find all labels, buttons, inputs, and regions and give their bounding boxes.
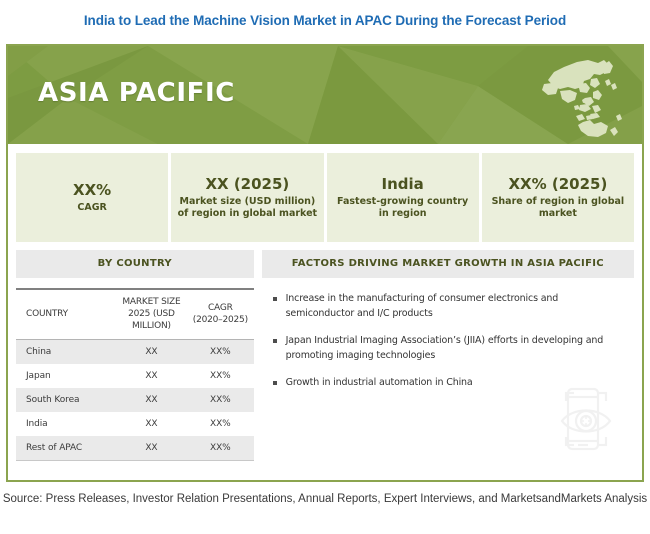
- stat-box-share-of-region: XX% (2025) Share of region in global mar…: [482, 153, 634, 242]
- growth-factors-list: Increase in the manufacturing of consume…: [262, 292, 634, 391]
- column-header-line: CAGR: [208, 303, 233, 313]
- cell-market-size: XX: [116, 436, 187, 461]
- list-item: Growth in industrial automation in China: [272, 376, 628, 391]
- column-header-cagr: CAGR (2020–2025): [187, 289, 254, 340]
- column-header-line: COUNTRY: [26, 309, 68, 319]
- stat-box-cagr: XX% CAGR: [16, 153, 168, 242]
- country-table: COUNTRY MARKET SIZE 2025 (USD MILLION) C…: [16, 288, 254, 461]
- column-header-market-size: MARKET SIZE 2025 (USD MILLION): [116, 289, 187, 340]
- banner-region-title: ASIA PACIFIC: [38, 78, 235, 108]
- table-row: China XX XX%: [16, 340, 254, 365]
- column-header-line: 2025 (USD MILLION): [128, 309, 175, 331]
- by-country-heading: BY COUNTRY: [16, 250, 254, 278]
- cell-country: Japan: [16, 364, 116, 388]
- machine-vision-eye-icon: [552, 383, 626, 457]
- cell-country: South Korea: [16, 388, 116, 412]
- list-item: Japan Industrial Imaging Association’s (…: [272, 334, 628, 363]
- table-row: Rest of APAC XX XX%: [16, 436, 254, 461]
- stat-value: XX% (2025): [508, 175, 607, 193]
- cell-cagr: XX%: [187, 436, 254, 461]
- infographic-card: ASIA PACIFIC XX% CAGR XX (2025) Market s…: [6, 44, 644, 482]
- cell-cagr: XX%: [187, 340, 254, 365]
- stat-boxes: XX% CAGR XX (2025) Market size (USD mill…: [8, 144, 642, 250]
- stat-label: Fastest-growing country in region: [333, 196, 473, 221]
- cell-country: China: [16, 340, 116, 365]
- asia-pacific-map-icon: [530, 54, 626, 140]
- table-row: India XX XX%: [16, 412, 254, 436]
- table-row: South Korea XX XX%: [16, 388, 254, 412]
- cell-market-size: XX: [116, 340, 187, 365]
- stat-value: XX%: [73, 181, 111, 199]
- stat-box-fastest-growing-country: India Fastest-growing country in region: [327, 153, 479, 242]
- table-header-row: COUNTRY MARKET SIZE 2025 (USD MILLION) C…: [16, 289, 254, 340]
- source-note: Source: Press Releases, Investor Relatio…: [0, 489, 650, 510]
- cell-cagr: XX%: [187, 388, 254, 412]
- bullet-square-icon: [273, 339, 277, 343]
- list-item-text: Japan Industrial Imaging Association’s (…: [286, 335, 604, 361]
- column-header-line: (2020–2025): [193, 315, 248, 325]
- cell-market-size: XX: [116, 364, 187, 388]
- page-title: India to Lead the Machine Vision Market …: [0, 0, 650, 31]
- column-header-line: MARKET SIZE: [122, 297, 180, 307]
- column-header-country: COUNTRY: [16, 289, 116, 340]
- region-banner: ASIA PACIFIC: [8, 46, 642, 144]
- cell-market-size: XX: [116, 412, 187, 436]
- cell-country: Rest of APAC: [16, 436, 116, 461]
- growth-factors-heading: FACTORS DRIVING MARKET GROWTH IN ASIA PA…: [262, 250, 634, 278]
- stat-label: Share of region in global market: [488, 196, 628, 221]
- stat-label: CAGR: [77, 202, 106, 215]
- bullet-square-icon: [273, 381, 277, 385]
- stat-label: Market size (USD million) of region in g…: [177, 196, 317, 221]
- stat-box-market-size: XX (2025) Market size (USD million) of r…: [171, 153, 323, 242]
- cell-cagr: XX%: [187, 364, 254, 388]
- growth-factors-panel: FACTORS DRIVING MARKET GROWTH IN ASIA PA…: [262, 250, 634, 461]
- lower-panels: BY COUNTRY COUNTRY MARKET SIZE 2025 (USD…: [8, 250, 642, 469]
- list-item-text: Increase in the manufacturing of consume…: [286, 293, 559, 319]
- list-item: Increase in the manufacturing of consume…: [272, 292, 628, 321]
- cell-country: India: [16, 412, 116, 436]
- stat-value: XX (2025): [205, 175, 289, 193]
- bullet-square-icon: [273, 297, 277, 301]
- stat-value: India: [381, 175, 423, 193]
- by-country-panel: BY COUNTRY COUNTRY MARKET SIZE 2025 (USD…: [16, 250, 254, 461]
- list-item-text: Growth in industrial automation in China: [286, 377, 473, 388]
- cell-market-size: XX: [116, 388, 187, 412]
- cell-cagr: XX%: [187, 412, 254, 436]
- table-row: Japan XX XX%: [16, 364, 254, 388]
